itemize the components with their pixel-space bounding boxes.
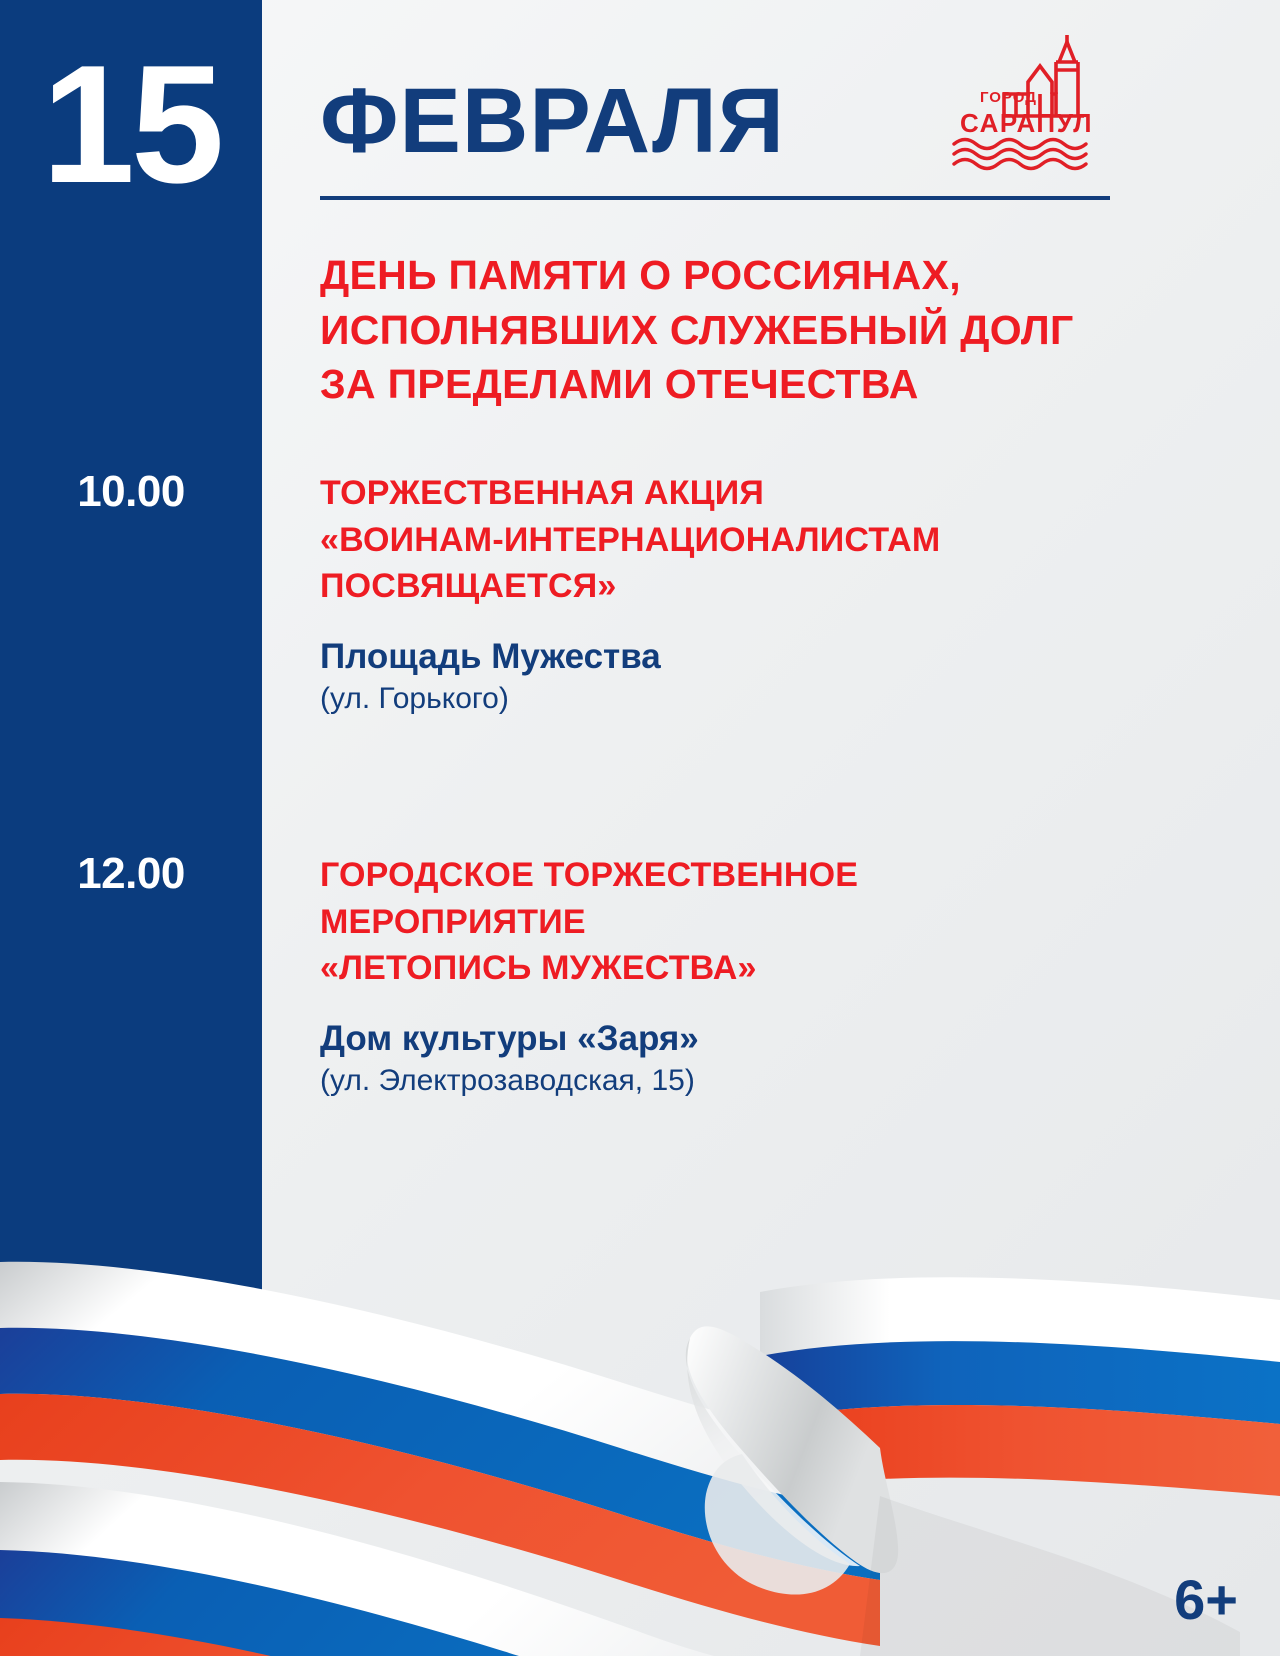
russian-flag-ribbon-decoration	[0, 1196, 1280, 1656]
page-title: ДЕНЬ ПАМЯТИ О РОССИЯНАХ, ИСПОЛНЯВШИХ СЛУ…	[320, 248, 1200, 412]
event-title-line-1: ГОРОДСКОЕ ТОРЖЕСТВЕННОЕ	[320, 852, 1200, 899]
logo-line1: ГОРОД	[980, 89, 1037, 106]
poster-canvas: 15 ФЕВРАЛЯ ГОРОД САРАПУЛ	[0, 0, 1280, 1656]
event-title-line-2: «ВОИНАМ-ИНТЕРНАЦИОНАЛИСТАМ	[320, 517, 1200, 564]
sarapul-city-emblem-icon: ГОРОД САРАПУЛ	[944, 32, 1104, 172]
event-title-line-1: ТОРЖЕСТВЕННАЯ АКЦИЯ	[320, 470, 1200, 517]
page-title-line-2: ИСПОЛНЯВШИХ СЛУЖЕБНЫЙ ДОЛГ	[320, 303, 1200, 358]
event-address: (ул. Электрозаводская, 15)	[320, 1062, 1200, 1100]
day-number: 15	[0, 40, 262, 208]
event-title-line-3: «ЛЕТОПИСЬ МУЖЕСТВА»	[320, 945, 1200, 992]
age-rating-badge: 6+	[1174, 1572, 1238, 1628]
event-venue: Площадь Мужества	[320, 636, 1200, 679]
event-title-line-2: МЕРОПРИЯТИЕ	[320, 899, 1200, 946]
event-title-line-3: ПОСВЯЩАЕТСЯ»	[320, 563, 1200, 610]
event-body: ТОРЖЕСТВЕННАЯ АКЦИЯ «ВОИНАМ-ИНТЕРНАЦИОНА…	[320, 470, 1200, 718]
event-time: 10.00	[0, 470, 262, 514]
logo-line2: САРАПУЛ	[960, 108, 1093, 138]
month-name: ФЕВРАЛЯ	[320, 75, 785, 167]
page-title-line-1: ДЕНЬ ПАМЯТИ О РОССИЯНАХ,	[320, 248, 1200, 303]
event-address: (ул. Горького)	[320, 680, 1200, 718]
event-venue: Дом культуры «Заря»	[320, 1018, 1200, 1061]
event-time: 12.00	[0, 852, 262, 896]
header-divider	[320, 196, 1110, 200]
page-title-line-3: ЗА ПРЕДЕЛАМИ ОТЕЧЕСТВА	[320, 357, 1200, 412]
event-title: ТОРЖЕСТВЕННАЯ АКЦИЯ «ВОИНАМ-ИНТЕРНАЦИОНА…	[320, 470, 1200, 610]
event-title: ГОРОДСКОЕ ТОРЖЕСТВЕННОЕ МЕРОПРИЯТИЕ «ЛЕТ…	[320, 852, 1200, 992]
event-body: ГОРОДСКОЕ ТОРЖЕСТВЕННОЕ МЕРОПРИЯТИЕ «ЛЕТ…	[320, 852, 1200, 1100]
